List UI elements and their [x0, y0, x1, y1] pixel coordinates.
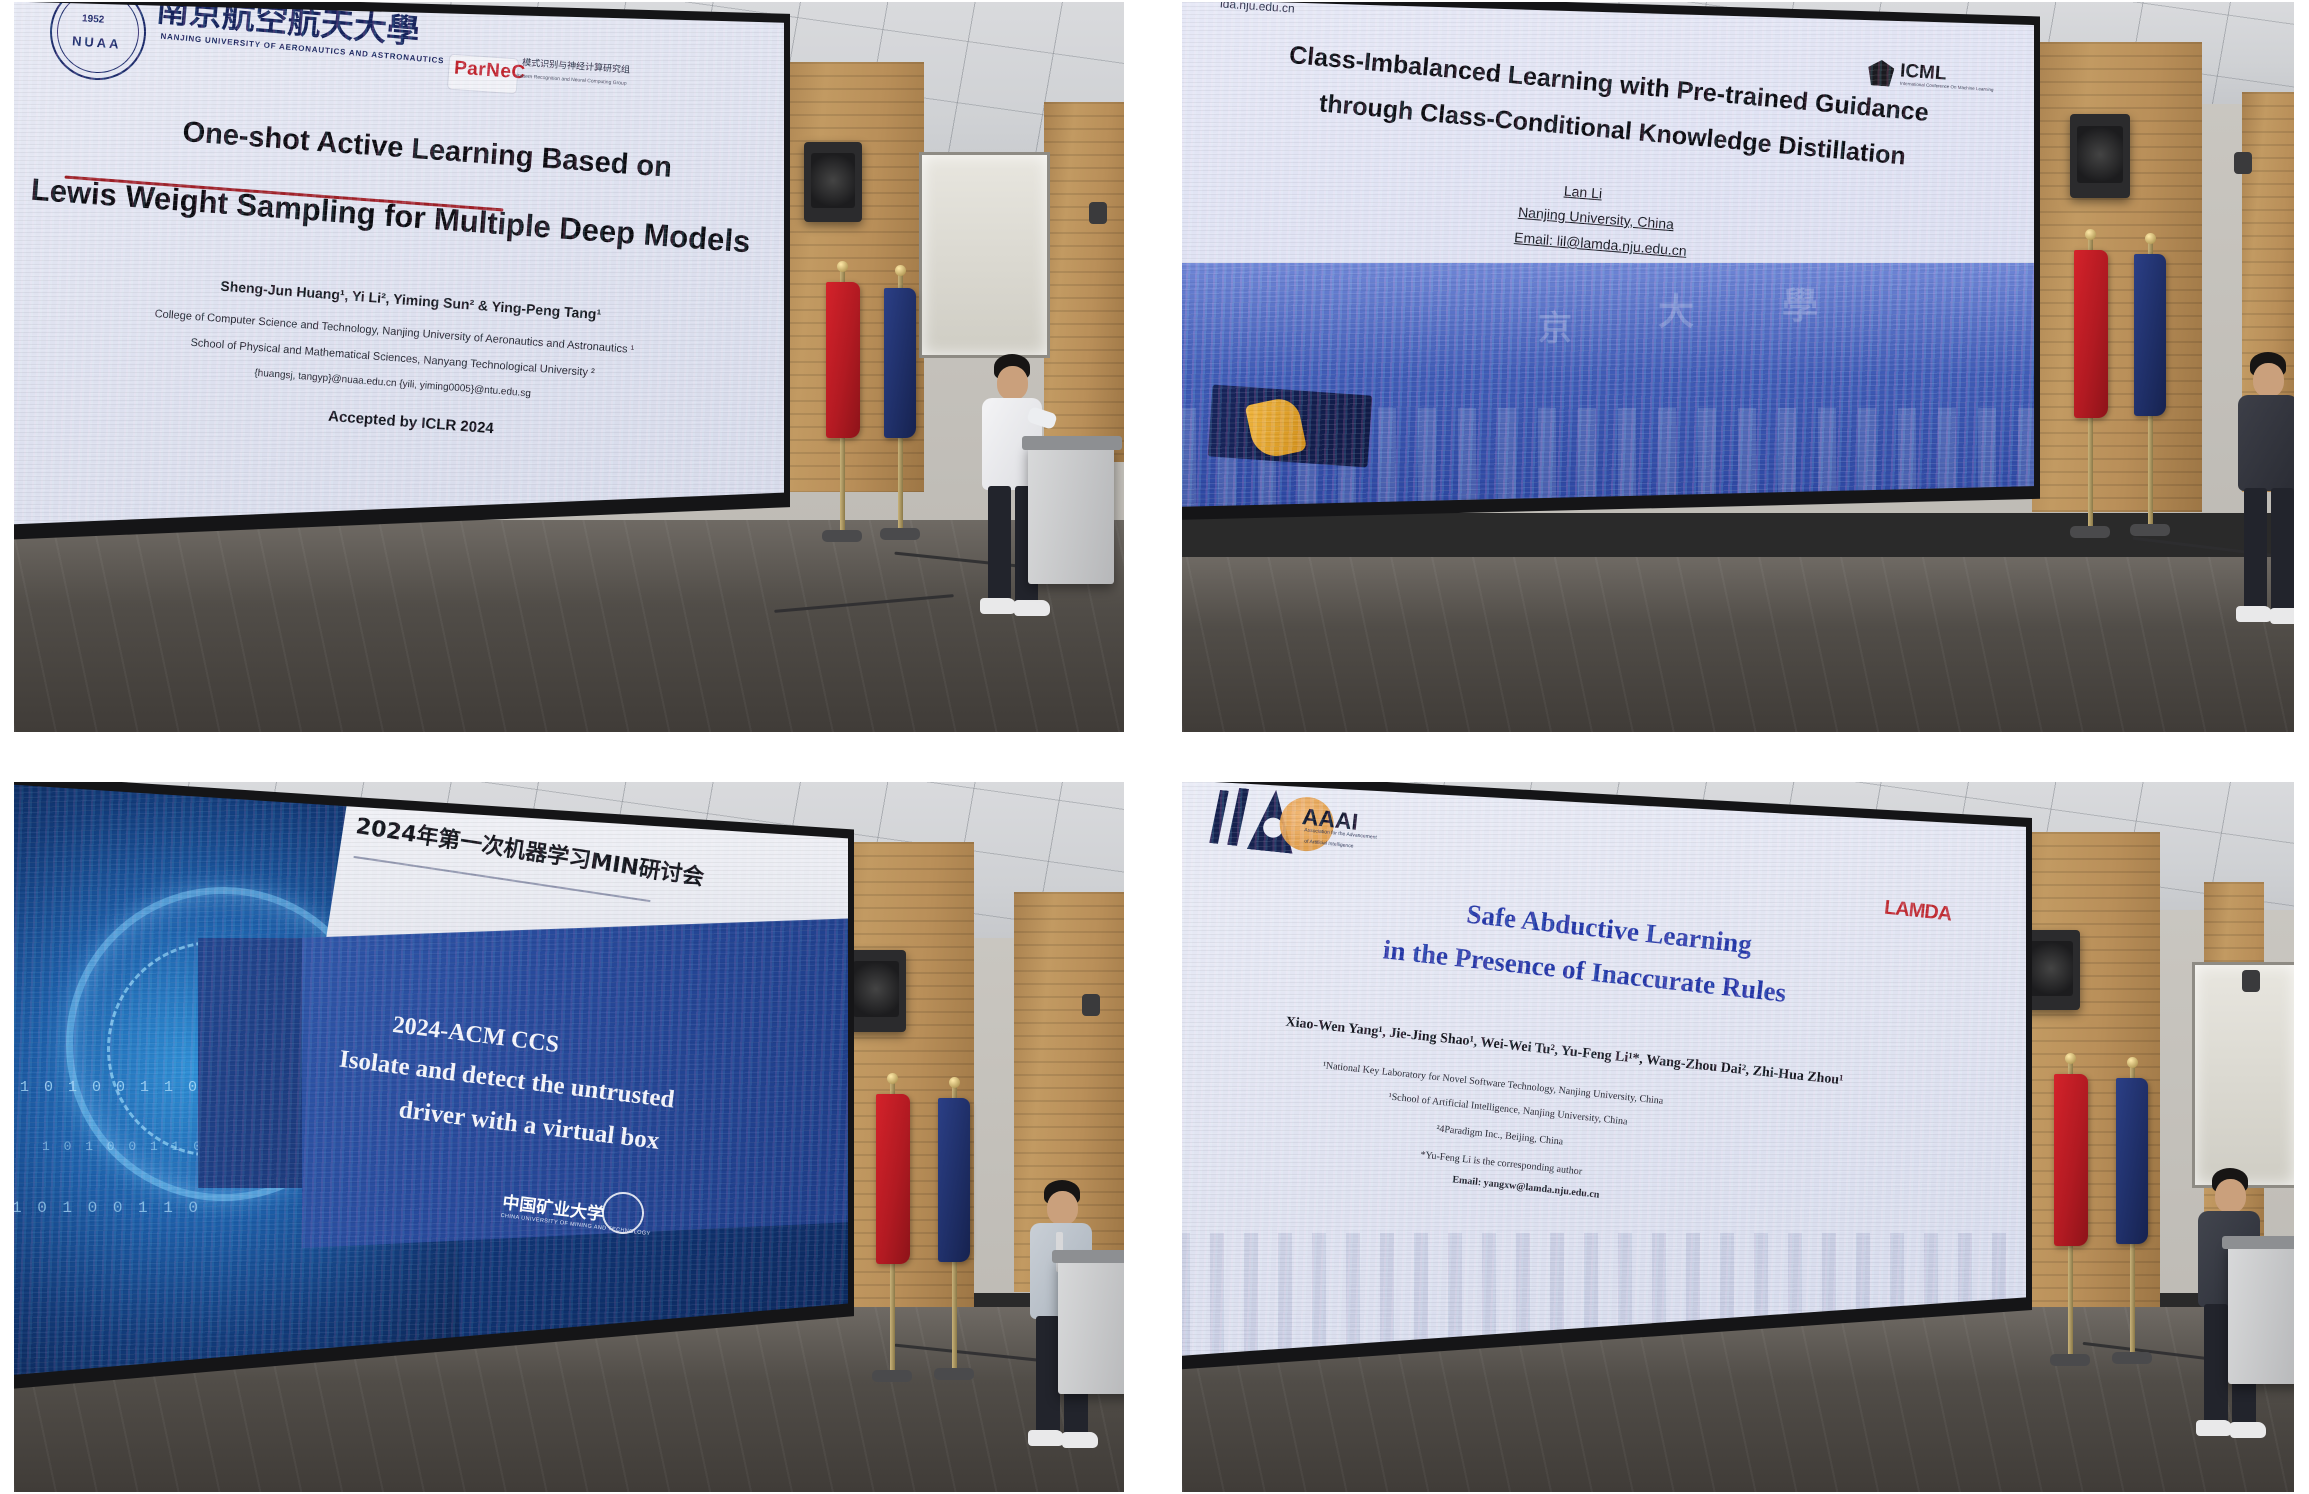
watermark-char-3: 學 [1782, 277, 1818, 329]
led-screen-3: 1 0 1 0 0 1 1 0 1 0 1 0 0 1 1 0 1 0 1 0 … [14, 782, 848, 1382]
security-camera [1089, 202, 1107, 224]
slide-2: lda.nju.edu.cn ICML International Confer… [1182, 2, 2034, 512]
lecture-room-4: AAAI Association for the Advancement of … [1182, 782, 2294, 1492]
blue-flag [2116, 1078, 2148, 1244]
floor [1182, 557, 2294, 732]
wall-speaker [846, 950, 906, 1032]
shoe-left [1028, 1430, 1064, 1446]
slide-emails: {huangsj, tangyp}@nuaa.edu.cn {yili, yim… [254, 368, 531, 400]
wall-speaker [804, 142, 862, 222]
leg-left [988, 486, 1011, 602]
blue-flag [884, 288, 916, 438]
slide-email: Email: yangxw@lamda.nju.edu.cn [1452, 1174, 1600, 1201]
security-camera [2242, 970, 2260, 992]
blue-flag [938, 1098, 970, 1262]
shoe-right [2230, 1422, 2266, 1438]
floor [14, 520, 1124, 732]
lecture-room-2: lda.nju.edu.cn ICML International Confer… [1182, 2, 2294, 732]
led-screen-2: lda.nju.edu.cn ICML International Confer… [1182, 2, 2034, 512]
shoe-right [2270, 608, 2294, 624]
flag-base-red [2050, 1354, 2090, 1366]
leg-left [2244, 488, 2267, 610]
presenter-person-2 [2228, 352, 2294, 652]
watermark-char-2: 大 [1658, 283, 1694, 335]
flag-base-blue [880, 528, 920, 540]
head [1047, 1191, 1078, 1225]
slide-title-line1: One-shot Active Learning Based on [181, 116, 673, 185]
wood-wall-panel [2032, 42, 2202, 512]
flag-base-blue [2130, 524, 2170, 536]
podium-top-surface-4 [2222, 1236, 2294, 1249]
slide-presenter-name: Lan Li [1563, 182, 1602, 201]
red-flag [826, 282, 860, 438]
flag-base-red [872, 1370, 912, 1382]
shoe-left [980, 598, 1016, 614]
red-flag [876, 1094, 910, 1264]
slide-accepted-note: Accepted by ICLR 2024 [328, 408, 495, 438]
podium-3 [1058, 1258, 1124, 1394]
slide-title-line2: Lewis Weight Sampling for Multiple Deep … [30, 172, 752, 260]
podium-top-surface-3 [1052, 1250, 1124, 1263]
leg-left [2204, 1304, 2228, 1424]
window [919, 152, 1050, 358]
window [2192, 962, 2294, 1188]
slide-presenter-email: Email: lil@lamda.nju.edu.cn [1514, 229, 1688, 259]
slide-4: AAAI Association for the Advancement of … [1182, 782, 2026, 1362]
head [997, 366, 1028, 400]
photo-collage: 1952 NUAA 南京航空航天大學 NANJING UNIVERSITY OF… [0, 0, 2309, 1494]
watermark-char-1: 京 [1538, 301, 1572, 350]
led-screen-4: AAAI Association for the Advancement of … [1182, 782, 2026, 1362]
photo-panel-bottom-right: AAAI Association for the Advancement of … [1182, 782, 2294, 1492]
photo-panel-top-left: 1952 NUAA 南京航空航天大學 NANJING UNIVERSITY OF… [14, 2, 1124, 732]
head [2253, 363, 2284, 397]
slide-authors: Sheng-Jun Huang¹, Yi Li², Yiming Sun² & … [220, 278, 602, 323]
wall-speaker [2070, 114, 2130, 198]
binary-decoration-2: 1 0 1 0 0 1 1 0 [42, 1138, 204, 1156]
torso-shirt [2238, 395, 2294, 491]
security-camera [2234, 152, 2252, 174]
lecture-room-1: 1952 NUAA 南京航空航天大學 NANJING UNIVERSITY OF… [14, 2, 1124, 732]
parnec-logo-cn: 模式识别与神经计算研究组 [522, 58, 630, 76]
leg-right [2271, 488, 2294, 612]
slide-header-url: lda.nju.edu.cn [1220, 2, 1296, 16]
security-camera [1082, 994, 1100, 1016]
flag-base-blue [2112, 1352, 2152, 1364]
shoe-right [1014, 600, 1050, 616]
lecture-room-3: 1 0 1 0 0 1 1 0 1 0 1 0 0 1 1 0 1 0 1 0 … [14, 782, 1124, 1492]
flag-base-red [822, 530, 862, 542]
red-flag [2074, 250, 2108, 418]
photo-panel-bottom-left: 1 0 1 0 0 1 1 0 1 0 1 0 0 1 1 0 1 0 1 0 … [14, 782, 1124, 1492]
binary-decoration-3: 1 0 1 0 0 1 1 0 [14, 1198, 201, 1220]
parnec-logo-sub: Pattern Recognition and Neural Computing… [516, 74, 627, 87]
shoe-left [2196, 1420, 2232, 1436]
binary-decoration: 1 0 1 0 0 1 1 0 [20, 1078, 200, 1098]
slide-affiliation-3: ²4Paradigm Inc., Beijing, China [1436, 1123, 1564, 1148]
leg-left [1036, 1316, 1060, 1434]
podium-top-surface-1 [1022, 436, 1122, 450]
led-screen-1: 1952 NUAA 南京航空航天大學 NANJING UNIVERSITY OF… [14, 2, 784, 530]
slide-1: 1952 NUAA 南京航空航天大學 NANJING UNIVERSITY OF… [14, 2, 784, 530]
podium-1 [1028, 444, 1114, 584]
flag-base-red [2070, 526, 2110, 538]
slide-authors: Xiao-Wen Yang¹, Jie-Jing Shao¹, Wei-Wei … [1285, 1015, 1844, 1090]
slide-lower-graphic: 京 大 學 [1182, 263, 2034, 512]
podium-4 [2228, 1244, 2294, 1384]
photo-panel-top-right: lda.nju.edu.cn ICML International Confer… [1182, 2, 2294, 732]
lamda-logo: LAMDA [1883, 897, 1952, 927]
slide-3: 1 0 1 0 0 1 1 0 1 0 1 0 0 1 1 0 1 0 1 0 … [14, 782, 848, 1382]
shoe-right [1062, 1432, 1098, 1448]
flag-base-blue [934, 1368, 974, 1380]
shoe-left [2236, 606, 2272, 622]
blue-flag [2134, 254, 2166, 416]
slide-presenter-affiliation: Nanjing University, China [1518, 204, 1675, 233]
aaai-logo-icon [1209, 783, 1307, 854]
slide-affiliation-1: ¹National Key Laboratory for Novel Softw… [1322, 1060, 1663, 1107]
red-flag [2054, 1074, 2088, 1246]
head [2215, 1179, 2246, 1213]
slide-corresponding-note: *Yu-Feng Li is the corresponding author [1420, 1150, 1583, 1178]
icml-logo-sub: International Conference On Machine Lear… [1900, 81, 1994, 93]
nuaa-seal-year: 1952 [82, 13, 105, 26]
icml-logo-icon [1867, 59, 1895, 87]
